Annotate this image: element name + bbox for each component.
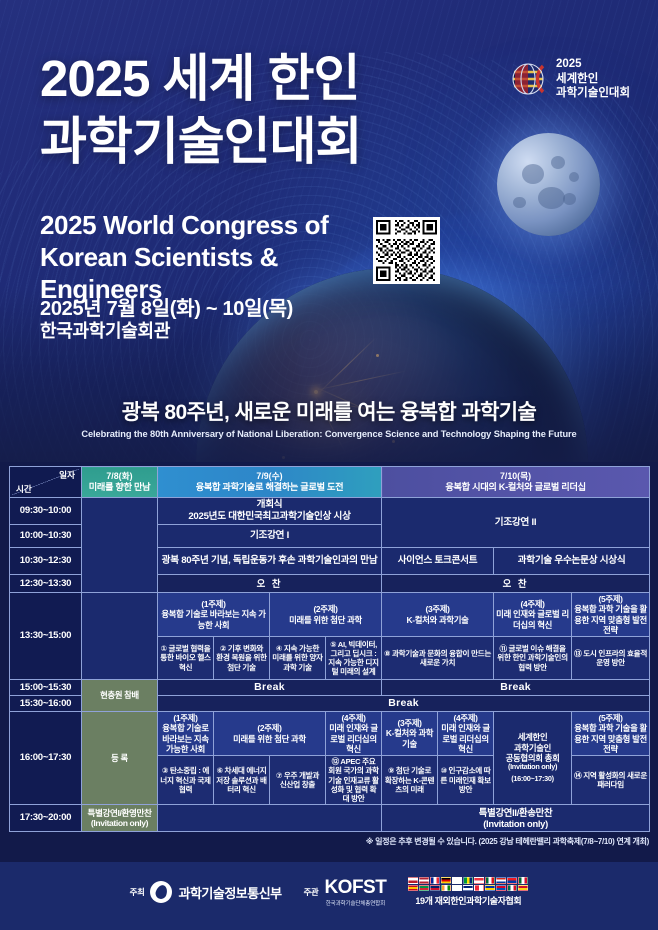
emblem-line3: 과학기술인대회 — [556, 87, 630, 99]
title-ko-line2: 과학기술인대회 — [40, 111, 510, 174]
title-ko-line1: 2025 세계 한인 — [40, 50, 359, 107]
time-1730-2000: 17:30~20:00 — [10, 805, 82, 832]
topic-1e-tag: (1주제) — [160, 713, 211, 723]
day3-date: 7/10(목) — [384, 471, 647, 482]
organizer-label: 주관 — [304, 886, 319, 898]
break-all: Break — [158, 696, 650, 712]
ga-line4: (Invitation only) — [496, 763, 569, 772]
table-row: 17:30~20:00 특별강연I/환영만찬 (Invitation only)… — [10, 805, 650, 832]
topic-4e-tag: (4주제) — [328, 713, 379, 723]
subsession-7: ⑦ 우주 개발과 신산업 창출 — [270, 756, 326, 805]
topic-5-title: 융복합 과학 기술을 활용한 지역 맞춤형 발전 전략 — [574, 604, 647, 635]
table-header-row: 일자 시간 7/8(화) 미래를 향한 만남 7/9(수) 융복합 과학기술로 … — [10, 467, 650, 498]
event-keynote-2: 기조강연 II — [382, 498, 650, 548]
corner-time-label: 시간 — [16, 484, 32, 494]
special2-label: 특별강연II/환송만찬 — [384, 807, 647, 818]
event-memorial-visit: 현충원 참배 — [82, 680, 158, 712]
flag-row-1 — [408, 877, 528, 884]
event-keynote-1: 기조강연 I — [158, 525, 382, 548]
topic-3-tag: (3주제) — [384, 604, 491, 614]
event-special-lecture-2: 특별강연II/환송만찬 (Invitation only) — [382, 805, 650, 832]
time-0930-1000: 09:30~10:00 — [10, 498, 82, 525]
topic-3-title: K-컬처와 과학기술 — [384, 615, 491, 625]
subsession-1: ① 글로벌 협력을 통한 바이오 헬스 혁신 — [158, 637, 214, 680]
event-venue: 한국과학기술회관 — [40, 317, 170, 343]
topic-4-evening-day2: (4주제) 미래 인재와 글로벌 리더십의 혁신 — [326, 712, 382, 756]
subsession-14: ⑭ 지역 활성화의 새로운 패러다임 — [572, 756, 650, 805]
topic-3-evening: (3주제) K-컬처와 과학기술 — [382, 712, 438, 756]
event-science-talk: 사이언스 토크콘서트 — [382, 548, 494, 575]
subsession-11: ⑪ 글로벌 이슈 해결을 위한 한인 과학기술인의 협력 방안 — [494, 637, 572, 680]
time-1230-1330: 12:30~13:30 — [10, 575, 82, 593]
special1-sub: (Invitation only) — [84, 818, 155, 828]
schedule-note: ※ 일정은 추후 변경될 수 있습니다. (2025 강남 테헤란밸리 과학축제… — [366, 836, 649, 847]
day2-date: 7/9(수) — [160, 471, 379, 482]
topic-5-afternoon: (5주제) 융복합 과학 기술을 활용한 지역 맞춤형 발전 전략 — [572, 593, 650, 637]
topic-3-afternoon: (3주제) K-컬처와 과학기술 — [382, 593, 494, 637]
subsession-9: ⑨ 첨단 기술로 확장하는 K-콘텐츠의 미래 — [382, 756, 438, 805]
event-opening-ceremony: 개회식 2025년도 대한민국최고과학기술인상 시상 — [158, 498, 382, 525]
event-registration: 등 록 — [82, 712, 158, 805]
day1-subtitle: 미래를 향한 만남 — [84, 482, 155, 494]
day1-afternoon-empty — [82, 593, 158, 680]
time-1030-1230: 10:30~12:30 — [10, 548, 82, 575]
topic-5-tag: (5주제) — [574, 594, 647, 604]
subsession-10: ⑩ 인구감소에 따른 미래인재 확보 방안 — [438, 756, 494, 805]
topic-2-evening: (2주제) 미래를 위한 첨단 과학 — [214, 712, 326, 756]
event-liberation-meeting: 광복 80주년 기념, 독립운동가 후손 과학기술인과의 만남 — [158, 548, 382, 575]
schedule-table: 일자 시간 7/8(화) 미래를 향한 만남 7/9(수) 융복합 과학기술로 … — [9, 466, 650, 832]
flag-row-2 — [408, 885, 528, 892]
day1-date: 7/8(화) — [84, 471, 155, 482]
day-header-7-8: 7/8(화) 미래를 향한 만남 — [82, 467, 158, 498]
ministry-logo-icon — [150, 881, 172, 903]
ga-line5: (16:00~17:30) — [496, 775, 569, 784]
federation-name: 19개 재외한인과학기술자협회 — [415, 894, 521, 907]
topic-1-afternoon: (1주제) 융복합 기술로 바라보는 지속 가능한 사회 — [158, 593, 270, 637]
topic-2e-tag: (2주제) — [216, 723, 323, 733]
subsession-13: ⑬ 도시 인프라의 효율적 운영 방안 — [572, 637, 650, 680]
subsession-3: ③ 탄소중립 : 에너지 혁신과 국제협력 — [158, 756, 214, 805]
time-1330-1500: 13:30~15:00 — [10, 593, 82, 680]
emblem-line2: 세계한인 — [556, 73, 598, 85]
topic-1-title: 융복합 기술로 바라보는 지속 가능한 사회 — [160, 609, 267, 630]
congress-emblem: 2025 세계한인 과학기술인대회 — [509, 50, 637, 108]
topic-3e-tag: (3주제) — [384, 718, 435, 728]
corner-date-label: 일자 — [59, 470, 75, 480]
ga-line2: 과학기술인 — [496, 743, 569, 753]
qr-code[interactable] — [373, 217, 440, 284]
title-en-line1: 2025 World Congress of — [40, 210, 400, 242]
day-header-7-9: 7/9(수) 융복합 과학기술로 해결하는 글로벌 도전 — [158, 467, 382, 498]
topic-3e-title: K-컬처와 과학기술 — [384, 728, 435, 749]
topic-4e-title: 미래 인재와 글로벌 리더십의 혁신 — [328, 723, 379, 754]
subsession-8: ⑧ 과학기술과 문화의 융합이 만드는 새로운 가치 — [382, 637, 494, 680]
event-general-assembly: 세계한인 과학기술인 공동협의회 총회 (Invitation only) (1… — [494, 712, 572, 805]
table-row: 09:30~10:00 개회식 2025년도 대한민국최고과학기술인상 시상 기… — [10, 498, 650, 525]
slogan-english: Celebrating the 80th Anniversary of Nati… — [0, 429, 658, 439]
time-1600-1730: 16:00~17:30 — [10, 712, 82, 805]
host-name: 과학기술정보통신부 — [178, 883, 281, 902]
time-1530-1600: 15:30~16:00 — [10, 696, 82, 712]
day2-evening-empty — [158, 805, 382, 832]
topic-2-title: 미래를 위한 첨단 과학 — [272, 615, 379, 625]
slogan-korean: 광복 80주년, 새로운 미래를 여는 융복합 과학기술 — [0, 396, 658, 426]
table-row: 13:30~15:00 (1주제) 융복합 기술로 바라보는 지속 가능한 사회… — [10, 593, 650, 637]
host-label: 주최 — [130, 886, 145, 898]
award-label: 2025년도 대한민국최고과학기술인상 시상 — [160, 511, 379, 523]
event-paper-award: 과학기술 우수논문상 시상식 — [494, 548, 650, 575]
day1-morning-empty — [82, 498, 158, 593]
topic-5e-title: 융복합 과학 기술을 활용한 지역 맞춤형 발전 전략 — [574, 723, 647, 754]
kofst-logo: KOFST 한국과학기술단체총연합회 — [324, 878, 386, 907]
opening-label: 개회식 — [160, 499, 379, 511]
topic-4-afternoon: (4주제) 미래 인재와 글로벌 리더십의 혁신 — [494, 593, 572, 637]
event-lunch-day2: 오 찬 — [158, 575, 382, 593]
subsession-6: ⑥ 차세대 에너지 저장 솔루션과 배터리 혁신 — [214, 756, 270, 805]
poster-title-korean: 2025 세계 한인 과학기술인대회 — [40, 48, 510, 173]
kofst-name: KOFST — [324, 878, 386, 897]
topic-4-tag: (4주제) — [496, 599, 569, 609]
topic-4-evening-day3: (4주제) 미래 인재와 글로벌 리더십의 혁신 — [438, 712, 494, 756]
emblem-year: 2025 — [556, 58, 582, 70]
topic-5e-tag: (5주제) — [574, 713, 647, 723]
time-1000-1030: 10:00~10:30 — [10, 525, 82, 548]
special1-label: 특별강연I/환영만찬 — [84, 808, 155, 818]
event-special-lecture-1: 특별강연I/환영만찬 (Invitation only) — [82, 805, 158, 832]
subsession-12: ⑫ APEC 주요 회원 국가의 과학기술 인재교류 활성화 및 협력 확대 방… — [326, 756, 382, 805]
topic-2-tag: (2주제) — [272, 604, 379, 614]
topic-1-evening: (1주제) 융복합 기술로 바라보는 지속 가능한 사회 — [158, 712, 214, 756]
slogan-block: 광복 80주년, 새로운 미래를 여는 융복합 과학기술 Celebrating… — [0, 396, 658, 439]
subsession-5: ⑤ AI, 빅데이터, 그리고 딥시크 : 지속 가능한 디지털 미래의 설계 — [326, 637, 382, 680]
table-row: 15:00~15:30 현충원 참배 Break Break — [10, 680, 650, 696]
topic-2-afternoon: (2주제) 미래를 위한 첨단 과학 — [270, 593, 382, 637]
break-day3-a: Break — [382, 680, 650, 696]
topic-4-title: 미래 인재와 글로벌 리더십의 혁신 — [496, 609, 569, 630]
special2-sub: (Invitation only) — [384, 818, 647, 829]
poster-root: 2025 세계 한인 과학기술인대회 2025 — [0, 0, 658, 930]
kofst-sub: 한국과학기술단체총연합회 — [326, 899, 385, 907]
topic-5-evening: (5주제) 융복합 과학 기술을 활용한 지역 맞춤형 발전 전략 — [572, 712, 650, 756]
globe-emblem-icon — [509, 59, 549, 99]
topic-1e-title: 융복합 기술로 바라보는 지속 가능한 사회 — [160, 723, 211, 754]
header-corner: 일자 시간 — [10, 467, 82, 498]
ga-line1: 세계한인 — [496, 732, 569, 742]
subsession-4: ④ 지속 가능한 미래를 위한 양자 과학 기술 — [270, 637, 326, 680]
subsession-2: ② 기후 변화와 환경 복원을 위한 첨단 기술 — [214, 637, 270, 680]
hero-banner: 2025 세계 한인 과학기술인대회 2025 — [0, 0, 658, 462]
topic-1-tag: (1주제) — [160, 599, 267, 609]
day-header-7-10: 7/10(목) 융복합 시대의 K-컬처와 글로벌 리더십 — [382, 467, 650, 498]
time-1500-1530: 15:00~15:30 — [10, 680, 82, 696]
event-lunch-day3: 오 찬 — [382, 575, 650, 593]
congress-emblem-text: 2025 세계한인 과학기술인대회 — [556, 57, 630, 101]
schedule-section: 일자 시간 7/8(화) 미래를 향한 만남 7/9(수) 융복합 과학기술로 … — [0, 462, 658, 862]
federation-group: 19개 재외한인과학기술자협회 — [408, 877, 528, 907]
table-row: 16:00~17:30 등 록 (1주제) 융복합 기술로 바라보는 지속 가능… — [10, 712, 650, 756]
topic-4e2-title: 미래 인재와 글로벌 리더십의 혁신 — [440, 723, 491, 754]
organizer-group: 주관 KOFST 한국과학기술단체총연합회 — [304, 878, 387, 907]
break-day2-a: Break — [158, 680, 382, 696]
topic-2e-title: 미래를 위한 첨단 과학 — [216, 734, 323, 744]
host-group: 주최 과학기술정보통신부 — [130, 881, 282, 903]
footer-section: 주최 과학기술정보통신부 주관 KOFST 한국과학기술단체총연합회 — [0, 862, 658, 930]
topic-4e2-tag: (4주제) — [440, 713, 491, 723]
day2-subtitle: 융복합 과학기술로 해결하는 글로벌 도전 — [160, 482, 379, 494]
day3-subtitle: 융복합 시대의 K-컬처와 글로벌 리더십 — [384, 482, 647, 494]
